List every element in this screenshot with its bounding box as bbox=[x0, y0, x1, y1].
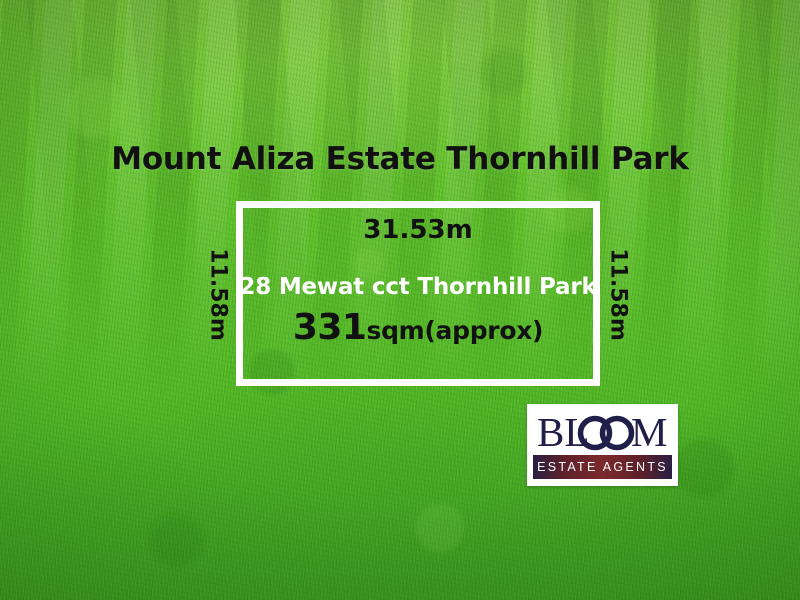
lot-label-group: 31.53m 28 Mewat cct Thornhill Park 331 s… bbox=[236, 201, 600, 386]
lot-area-value: 331 bbox=[293, 307, 367, 348]
property-lot-plan-image: Mount Aliza Estate Thornhill Park 31.53m… bbox=[0, 0, 800, 600]
svg-text:M: M bbox=[631, 411, 667, 455]
property-address: 28 Mewat cct Thornhill Park bbox=[239, 274, 596, 300]
agency-logo-wordmark: BL M bbox=[533, 410, 672, 455]
agency-logo-tagline: ESTATE AGENTS bbox=[533, 455, 672, 479]
lot-area-unit: sqm(approx) bbox=[366, 316, 543, 345]
agency-logo: BL M ESTATE AGENTS bbox=[527, 404, 678, 486]
dimension-label-top: 31.53m bbox=[363, 215, 472, 245]
dimension-label-right: 11.58m bbox=[606, 240, 631, 350]
dimension-label-left: 11.58m bbox=[206, 240, 231, 350]
estate-title: Mount Aliza Estate Thornhill Park bbox=[0, 141, 800, 177]
bloom-wordmark-icon: BL M bbox=[537, 411, 669, 455]
lot-area-label: 331 sqm(approx) bbox=[293, 307, 543, 348]
